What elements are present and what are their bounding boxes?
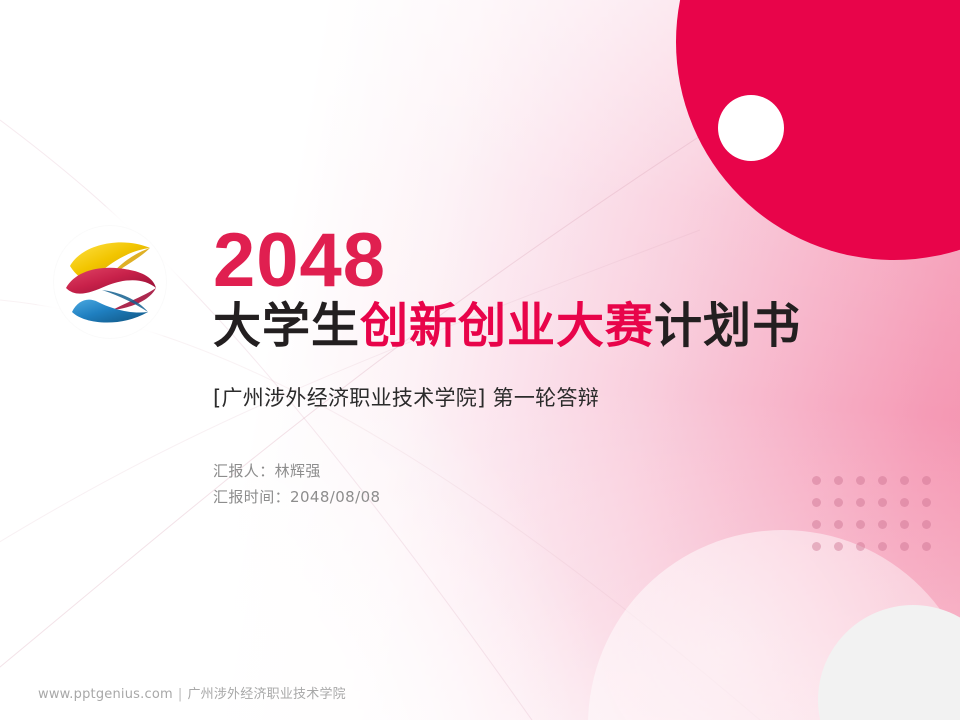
grid-dot: [812, 520, 821, 529]
grid-dot: [900, 542, 909, 551]
subtitle: [广州涉外经济职业技术学院] 第一轮答辩: [213, 382, 913, 412]
presenter-meta: 汇报人：林辉强 汇报时间：2048/08/08: [213, 459, 913, 511]
grid-dot: [922, 476, 931, 485]
footer-separator: |: [178, 687, 183, 702]
grid-dot: [900, 520, 909, 529]
year-heading: 2048: [213, 224, 913, 298]
grid-dot: [922, 498, 931, 507]
footer-website[interactable]: www.pptgenius.com: [38, 687, 173, 702]
presentation-title-slide: 2048 大学生创新创业大赛计划书 [广州涉外经济职业技术学院] 第一轮答辩 汇…: [0, 0, 960, 720]
grid-dot: [922, 520, 931, 529]
university-emblem-logo: [40, 212, 180, 352]
white-accent-circle: [718, 95, 784, 161]
footer: www.pptgenius.com|广州涉外经济职业技术学院: [38, 683, 346, 702]
grid-dot: [878, 520, 887, 529]
main-headline: 大学生创新创业大赛计划书: [213, 300, 913, 354]
headline-segment-1: 创新创业大赛: [360, 298, 654, 354]
grid-dot: [834, 542, 843, 551]
logo-ribbons-icon: [54, 226, 166, 338]
title-text-block: 2048 大学生创新创业大赛计划书 [广州涉外经济职业技术学院] 第一轮答辩 汇…: [213, 224, 913, 511]
grid-dot: [878, 542, 887, 551]
grid-dot: [856, 542, 865, 551]
headline-segment-0: 大学生: [213, 298, 360, 354]
grid-dot: [834, 520, 843, 529]
grid-dot: [812, 542, 821, 551]
headline-segment-2: 计划书: [654, 298, 801, 354]
presenter-name: 汇报人：林辉强: [213, 459, 913, 485]
footer-organization: 广州涉外经济职业技术学院: [187, 687, 345, 702]
grid-dot: [856, 520, 865, 529]
presentation-date: 汇报时间：2048/08/08: [213, 485, 913, 511]
grid-dot: [922, 542, 931, 551]
